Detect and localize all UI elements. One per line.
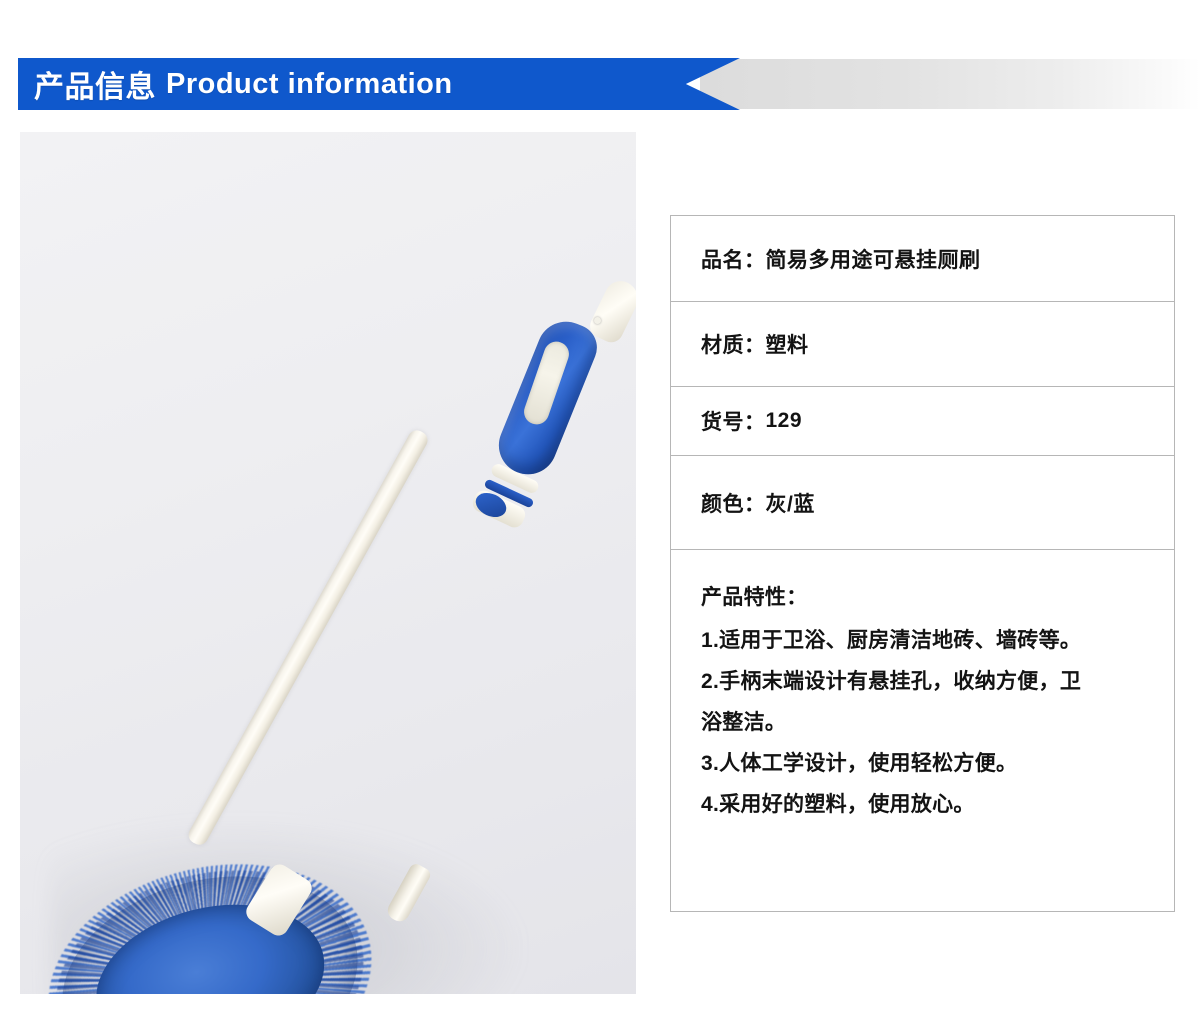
feature-item-4: 4.采用好的塑料，使用放心。 — [701, 785, 1152, 826]
hanging-hole — [594, 317, 601, 324]
product-photo — [20, 132, 636, 994]
spec-value-color: 灰/蓝 — [766, 488, 815, 518]
spec-label-item-number: 货号： — [701, 406, 766, 436]
handle-shaft — [185, 427, 430, 848]
section-header-banner: 产品信息 Product information — [0, 58, 1200, 110]
banner-gray-accent — [700, 59, 1200, 109]
spec-row-material: 材质： 塑料 — [671, 302, 1174, 387]
spec-row-color: 颜色： 灰/蓝 — [671, 456, 1174, 550]
spec-label-color: 颜色： — [701, 488, 766, 518]
spec-value-material: 塑料 — [766, 329, 809, 359]
spec-label-material: 材质： — [701, 329, 766, 359]
features-title: 产品特性： — [701, 578, 1152, 619]
spec-row-item-number: 货号： 129 — [671, 387, 1174, 456]
feature-item-2-cont: 浴整洁。 — [701, 703, 1152, 744]
feature-item-3: 3.人体工学设计，使用轻松方便。 — [701, 744, 1152, 785]
page-title-en: Product information — [166, 68, 453, 101]
product-information-page: 产品信息 Product information — [0, 0, 1200, 1014]
spec-row-product-name: 品名： 简易多用途可悬挂厕刷 — [671, 216, 1174, 302]
spec-value-product-name: 简易多用途可悬挂厕刷 — [766, 244, 981, 274]
page-title-cn: 产品信息 — [34, 62, 156, 106]
feature-item-2: 2.手柄末端设计有悬挂孔，收纳方便，卫 — [701, 662, 1152, 703]
spec-value-item-number: 129 — [766, 409, 803, 433]
spec-table: 品名： 简易多用途可悬挂厕刷 材质： 塑料 货号： 129 颜色： 灰/蓝 产品… — [670, 215, 1175, 912]
spec-label-product-name: 品名： — [701, 244, 766, 274]
spec-features-block: 产品特性： 1.适用于卫浴、厨房清洁地砖、墙砖等。 2.手柄末端设计有悬挂孔，收… — [671, 550, 1174, 826]
product-photo-inner — [20, 132, 636, 994]
page-title: 产品信息 Product information — [34, 58, 453, 110]
feature-item-1: 1.适用于卫浴、厨房清洁地砖、墙砖等。 — [701, 621, 1152, 662]
